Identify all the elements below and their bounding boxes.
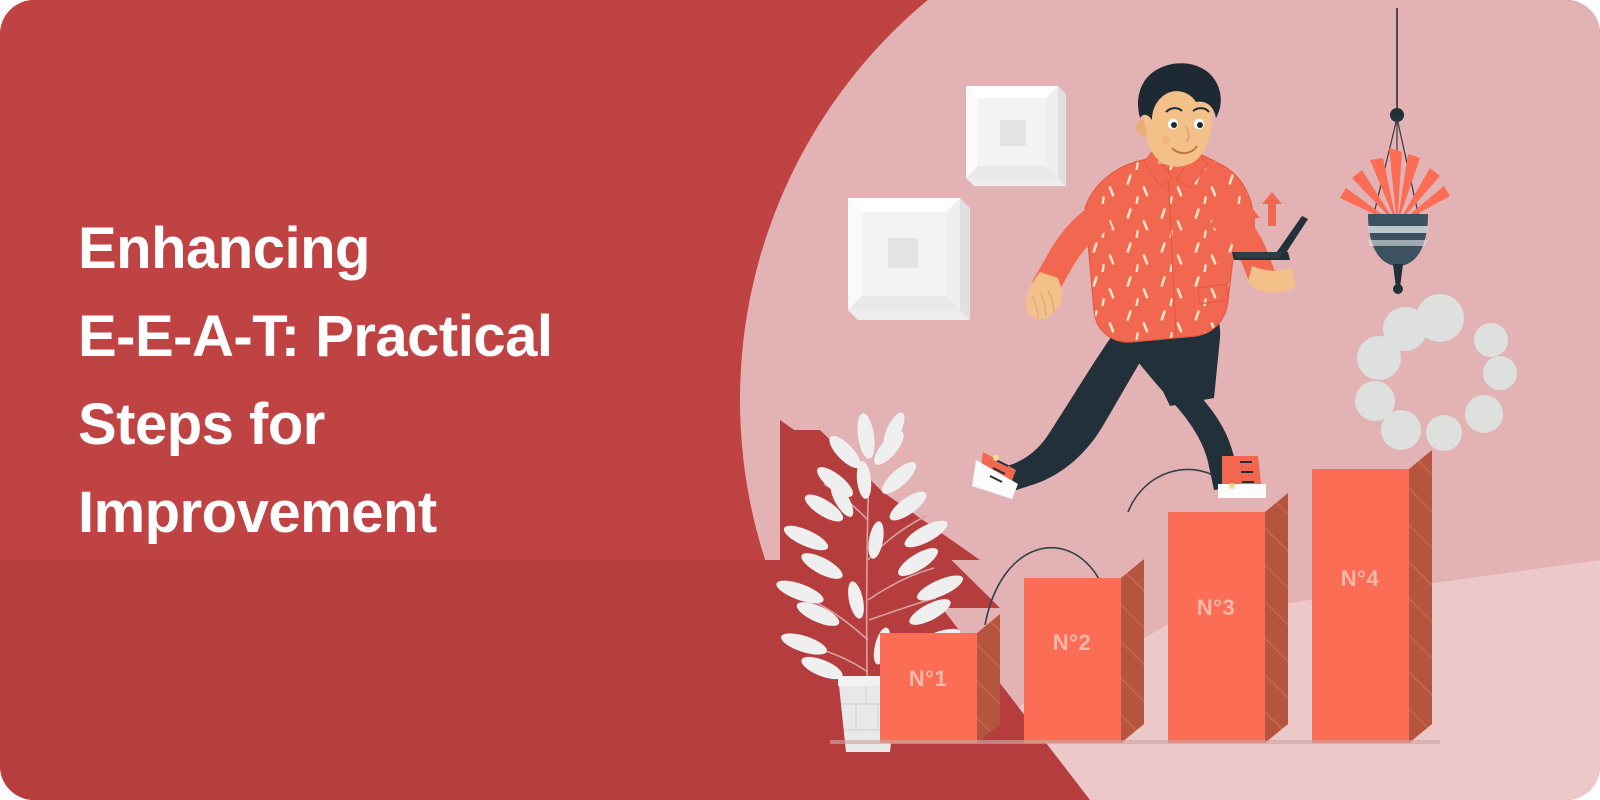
page-title: Enhancing E-E-A-T: Practical Steps for I… xyxy=(78,205,778,558)
picture-frame-icon xyxy=(848,198,970,320)
bar-label: N°3 xyxy=(1197,595,1235,620)
bar-label: N°1 xyxy=(909,666,947,691)
bar-group: N°1 xyxy=(880,614,1000,743)
banner-surface: N°1 N°2 N°3 N°4 xyxy=(0,0,1600,800)
bar-label: N°4 xyxy=(1341,566,1380,591)
ground-line xyxy=(830,740,1440,744)
picture-frame-icon xyxy=(966,86,1066,186)
banner-root: N°1 N°2 N°3 N°4 xyxy=(0,0,1600,800)
bar-group: N°4 xyxy=(1312,450,1432,743)
bar-group: N°2 xyxy=(1024,559,1144,743)
bar-label: N°2 xyxy=(1053,630,1091,655)
bar-group: N°3 xyxy=(1168,493,1288,743)
